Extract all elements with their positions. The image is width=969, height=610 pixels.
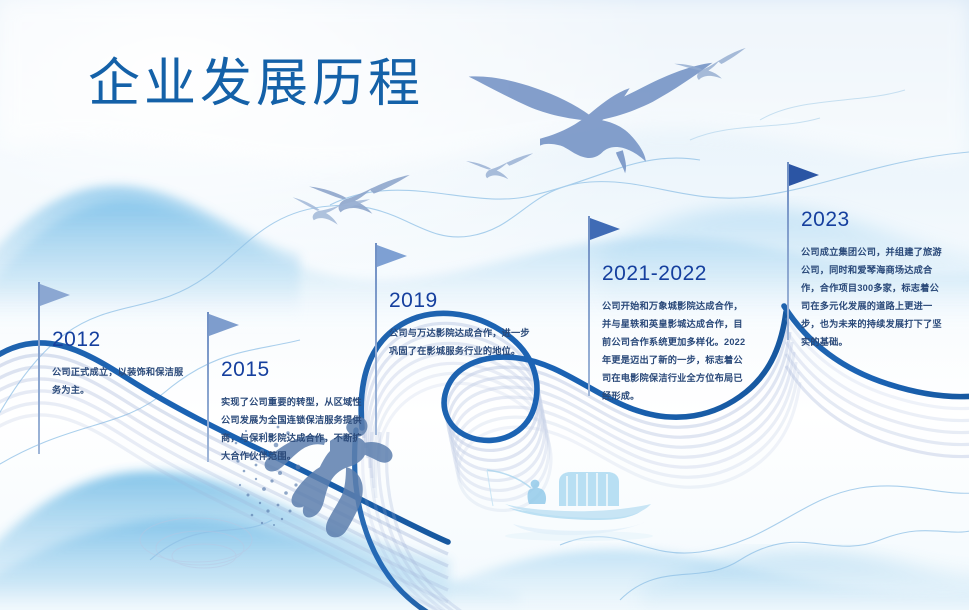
milestone-2019[interactable]: 2019 公司与万达影院达成合作，进一步巩固了在影城服务行业的地位。 (375, 243, 535, 361)
milestone-2015[interactable]: 2015 实现了公司重要的转型，从区域性公司发展为全国连锁保洁服务提供商，与保利… (207, 312, 365, 466)
milestone-year: 2019 (389, 289, 535, 313)
ribbon-descender-edge (355, 430, 430, 610)
flag-pole-icon (375, 243, 377, 435)
flag-pennant-icon (40, 284, 70, 306)
milestone-year: 2012 (52, 328, 190, 352)
flag-2019 (375, 243, 535, 289)
seagull-icon (290, 189, 370, 229)
flag-pole-icon (38, 282, 40, 454)
milestone-2021-2022[interactable]: 2021-2022 公司开始和万象城影院达成合作，并与星轶和英皇影城达成合作，目… (588, 216, 748, 406)
flag-pole-icon (588, 216, 590, 396)
flag-pennant-icon (590, 218, 620, 240)
infographic-poster: 企业发展历程 2012 公司正式成立，以装饰和保洁服务为主。 2015 实现了公… (0, 0, 969, 610)
page-title: 企业发展历程 (88, 58, 424, 110)
milestone-year: 2023 (801, 208, 945, 232)
milestone-description: 公司正式成立，以装饰和保洁服务为主。 (52, 364, 190, 400)
milestone-description: 公司开始和万象城影院达成合作，并与星轶和英皇影城达成合作，目前公司合作系统更加多… (602, 298, 748, 406)
seagull-icon (469, 63, 713, 173)
milestone-year: 2015 (221, 358, 365, 382)
milestone-description: 公司成立集团公司，并组建了旅游公司，同时和爱琴海商场达成合作，合作项目300多家… (801, 244, 945, 352)
ribbon-descender (363, 432, 462, 610)
seagull-icon (673, 48, 748, 84)
flag-2015 (207, 312, 365, 358)
milestone-2023[interactable]: 2023 公司成立集团公司，并组建了旅游公司，同时和爱琴海商场达成合作，合作项目… (787, 162, 945, 352)
flag-pennant-icon (377, 245, 407, 267)
ribbon-eddies (140, 518, 252, 568)
flag-2023 (787, 162, 945, 208)
flag-pennant-icon (789, 164, 819, 186)
flag-2021-2022 (588, 216, 748, 262)
seagull-icon (309, 175, 410, 214)
milestone-year: 2021-2022 (602, 262, 748, 286)
milestone-description: 实现了公司重要的转型，从区域性公司发展为全国连锁保洁服务提供商，与保利影院达成合… (221, 394, 365, 466)
flag-2012 (38, 282, 190, 328)
milestone-2012[interactable]: 2012 公司正式成立，以装饰和保洁服务为主。 (38, 282, 190, 400)
seagull-icon (466, 153, 533, 179)
flag-pole-icon (787, 162, 789, 340)
milestone-description: 公司与万达影院达成合作，进一步巩固了在影城服务行业的地位。 (389, 325, 535, 361)
flag-pennant-icon (209, 314, 239, 336)
